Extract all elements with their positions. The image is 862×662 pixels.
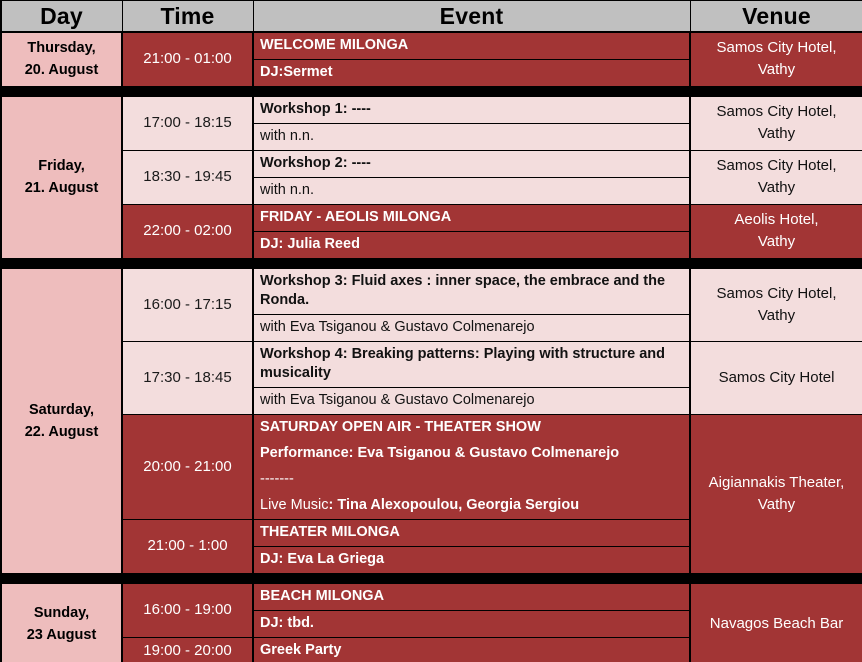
venue-name: Samos City Hotel, bbox=[695, 283, 858, 305]
event-title: BEACH MILONGA bbox=[254, 584, 689, 610]
event-cell: THEATER MILONGADJ: Eva La Griega bbox=[253, 519, 690, 573]
event-detail: with Eva Tsiganou & Gustavo Colmenarejo bbox=[254, 314, 689, 341]
table-row: Thursday,20. August21:00 - 01:00WELCOME … bbox=[1, 32, 862, 87]
event-cell: FRIDAY - AEOLIS MILONGADJ: Julia Reed bbox=[253, 204, 690, 258]
time-cell: 16:00 - 19:00 bbox=[122, 583, 253, 637]
event-cell: Workshop 2: ----with n.n. bbox=[253, 150, 690, 204]
day-separator-cell bbox=[1, 86, 862, 96]
time-cell: 18:30 - 19:45 bbox=[122, 150, 253, 204]
venue-name: Samos City Hotel bbox=[695, 367, 858, 389]
event-title: Workshop 3: Fluid axes : inner space, th… bbox=[254, 269, 689, 314]
venue-name: Aeolis Hotel, bbox=[695, 209, 858, 231]
event-cell: WELCOME MILONGADJ:Sermet bbox=[253, 32, 690, 87]
event-title: Greek Party bbox=[254, 638, 689, 662]
event-title: Workshop 2: ---- bbox=[254, 151, 689, 177]
venue-location: Vathy bbox=[695, 231, 858, 253]
venue-location: Vathy bbox=[695, 177, 858, 199]
column-header-day: Day bbox=[1, 1, 122, 32]
event-detail: with Eva Tsiganou & Gustavo Colmenarejo bbox=[254, 387, 689, 414]
event-title: SATURDAY OPEN AIR - THEATER SHOW bbox=[254, 415, 689, 441]
venue-name: Samos City Hotel, bbox=[695, 101, 858, 123]
day-name: Friday, bbox=[4, 155, 119, 177]
venue-cell: Navagos Beach Bar bbox=[690, 583, 862, 662]
venue-location: Vathy bbox=[695, 305, 858, 327]
venue-name: Samos City Hotel, bbox=[695, 37, 858, 59]
event-detail-value: : Tina Alexopoulou, Georgia Sergiou bbox=[329, 497, 580, 513]
venue-cell: Samos City Hotel bbox=[690, 341, 862, 414]
time-cell: 16:00 - 17:15 bbox=[122, 268, 253, 341]
day-cell-sunday: Sunday,23 August bbox=[1, 583, 122, 662]
day-date: 20. August bbox=[4, 59, 119, 81]
time-cell: 21:00 - 01:00 bbox=[122, 32, 253, 87]
table-header-row: Day Time Event Venue bbox=[1, 1, 862, 32]
day-name: Thursday, bbox=[4, 37, 119, 59]
day-separator bbox=[1, 258, 862, 268]
day-cell-friday: Friday,21. August bbox=[1, 96, 122, 258]
event-detail-label: Live Music bbox=[260, 497, 329, 513]
schedule-body: Thursday,20. August21:00 - 01:00WELCOME … bbox=[1, 32, 862, 662]
event-title: Workshop 1: ---- bbox=[254, 97, 689, 123]
venue-name: Aigiannakis Theater, bbox=[695, 472, 858, 494]
venue-location: Vathy bbox=[695, 123, 858, 145]
venue-cell: Samos City Hotel,Vathy bbox=[690, 268, 862, 341]
day-separator bbox=[1, 573, 862, 583]
day-name: Saturday, bbox=[4, 399, 119, 421]
event-cell: Workshop 3: Fluid axes : inner space, th… bbox=[253, 268, 690, 341]
time-cell: 22:00 - 02:00 bbox=[122, 204, 253, 258]
table-row: Sunday,23 August16:00 - 19:00BEACH MILON… bbox=[1, 583, 862, 637]
venue-location: Vathy bbox=[695, 494, 858, 516]
event-detail: DJ: Eva La Griega bbox=[254, 546, 689, 573]
event-detail: with n.n. bbox=[254, 177, 689, 204]
time-cell: 21:00 - 1:00 bbox=[122, 519, 253, 573]
table-row: 20:00 - 21:00SATURDAY OPEN AIR - THEATER… bbox=[1, 414, 862, 519]
venue-name: Navagos Beach Bar bbox=[695, 613, 858, 635]
table-row: 18:30 - 19:45Workshop 2: ----with n.n.Sa… bbox=[1, 150, 862, 204]
day-cell-thursday: Thursday,20. August bbox=[1, 32, 122, 87]
table-row: 17:30 - 18:45Workshop 4: Breaking patter… bbox=[1, 341, 862, 414]
day-date: 22. August bbox=[4, 421, 119, 443]
venue-cell: Aeolis Hotel,Vathy bbox=[690, 204, 862, 258]
day-separator bbox=[1, 86, 862, 96]
event-title: WELCOME MILONGA bbox=[254, 33, 689, 59]
time-cell: 17:00 - 18:15 bbox=[122, 96, 253, 150]
event-cell: Greek Party bbox=[253, 637, 690, 662]
day-name: Sunday, bbox=[4, 602, 119, 624]
event-detail: DJ:Sermet bbox=[254, 59, 689, 86]
event-cell: BEACH MILONGADJ: tbd. bbox=[253, 583, 690, 637]
venue-cell: Aigiannakis Theater,Vathy bbox=[690, 414, 862, 573]
time-cell: 19:00 - 20:00 bbox=[122, 637, 253, 662]
day-cell-saturday: Saturday,22. August bbox=[1, 268, 122, 573]
event-cell: Workshop 4: Breaking patterns: Playing w… bbox=[253, 341, 690, 414]
event-detail: Live Music: Tina Alexopoulou, Georgia Se… bbox=[254, 493, 689, 519]
venue-cell: Samos City Hotel,Vathy bbox=[690, 32, 862, 87]
venue-location: Vathy bbox=[695, 59, 858, 81]
column-header-time: Time bbox=[122, 1, 253, 32]
event-detail: ------- bbox=[254, 467, 689, 493]
day-separator-cell bbox=[1, 258, 862, 268]
venue-cell: Samos City Hotel,Vathy bbox=[690, 96, 862, 150]
table-row: 22:00 - 02:00FRIDAY - AEOLIS MILONGADJ: … bbox=[1, 204, 862, 258]
day-date: 23 August bbox=[4, 624, 119, 646]
event-cell: Workshop 1: ----with n.n. bbox=[253, 96, 690, 150]
event-detail: DJ: Julia Reed bbox=[254, 231, 689, 258]
day-date: 21. August bbox=[4, 177, 119, 199]
festival-schedule-table: Day Time Event Venue Thursday,20. August… bbox=[0, 0, 862, 662]
event-title: Workshop 4: Breaking patterns: Playing w… bbox=[254, 342, 689, 387]
event-cell: SATURDAY OPEN AIR - THEATER SHOWPerforma… bbox=[253, 414, 690, 519]
schedule-container: Day Time Event Venue Thursday,20. August… bbox=[0, 0, 862, 662]
event-title: THEATER MILONGA bbox=[254, 520, 689, 546]
venue-cell: Samos City Hotel,Vathy bbox=[690, 150, 862, 204]
event-title: FRIDAY - AEOLIS MILONGA bbox=[254, 205, 689, 231]
event-detail: DJ: tbd. bbox=[254, 610, 689, 637]
table-row: Saturday,22. August16:00 - 17:15Workshop… bbox=[1, 268, 862, 341]
column-header-venue: Venue bbox=[690, 1, 862, 32]
event-detail: with n.n. bbox=[254, 123, 689, 150]
time-cell: 20:00 - 21:00 bbox=[122, 414, 253, 519]
venue-name: Samos City Hotel, bbox=[695, 155, 858, 177]
day-separator-cell bbox=[1, 573, 862, 583]
column-header-event: Event bbox=[253, 1, 690, 32]
time-cell: 17:30 - 18:45 bbox=[122, 341, 253, 414]
table-row: Friday,21. August17:00 - 18:15Workshop 1… bbox=[1, 96, 862, 150]
event-detail: Performance: Eva Tsiganou & Gustavo Colm… bbox=[254, 441, 689, 467]
